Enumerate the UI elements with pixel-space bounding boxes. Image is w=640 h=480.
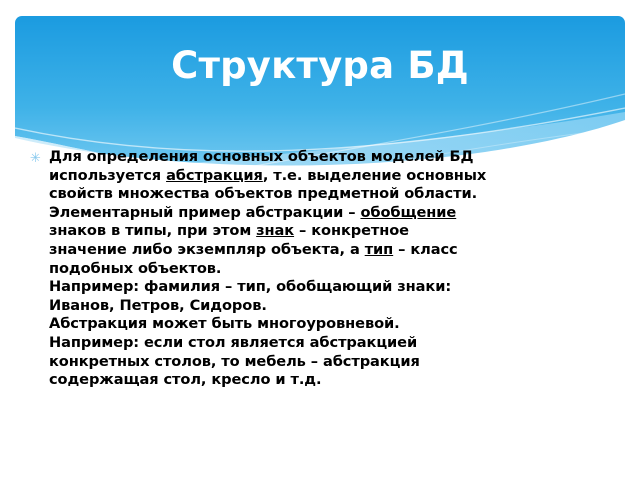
text-run: конкретных столов, то мебель – абстракци… (49, 353, 420, 370)
text-run: Например: фамилия – тип, обобщающий знак… (49, 278, 451, 295)
slide-title: Структура БД (15, 44, 625, 88)
emphasised-term: обобщение (360, 204, 456, 221)
emphasised-term: тип (365, 241, 393, 258)
body-text-line: знаков в типы, при этом знак – конкретно… (49, 222, 620, 241)
bullet-item-text: Для определения основных объектов моделе… (49, 148, 620, 390)
body-text-line: Например: фамилия – тип, обобщающий знак… (49, 278, 620, 297)
text-run: значение либо экземпляр объекта, а (49, 241, 365, 258)
text-run: – класс (393, 241, 457, 258)
presentation-slide: Структура БД ✳ Для определения основных … (0, 0, 640, 480)
body-text-line: используется абстракция, т.е. выделение … (49, 167, 620, 186)
text-run: Для определения основных объектов моделе… (49, 148, 473, 165)
text-run: , т.е. выделение основных (263, 167, 486, 184)
text-run: Абстракция может быть многоуровневой. (49, 315, 400, 332)
emphasised-term: абстракция (166, 167, 263, 184)
body-text-line: конкретных столов, то мебель – абстракци… (49, 353, 620, 372)
body-text-line: Например: если стол является абстракцией (49, 334, 620, 353)
body-text-line: свойств множества объектов предметной об… (49, 185, 620, 204)
body-text-line: Иванов, Петров, Сидоров. (49, 297, 620, 316)
snowflake-bullet-icon: ✳ (30, 148, 49, 168)
slide-body: ✳ Для определения основных объектов моде… (30, 148, 620, 390)
text-run: Например: если стол является абстракцией (49, 334, 417, 351)
body-text-line: подобных объектов. (49, 260, 620, 279)
emphasised-term: знак (256, 222, 294, 239)
text-run: подобных объектов. (49, 260, 221, 277)
text-run: Иванов, Петров, Сидоров. (49, 297, 267, 314)
text-run: знаков в типы, при этом (49, 222, 256, 239)
text-run: свойств множества объектов предметной об… (49, 185, 477, 202)
body-text-line: содержащая стол, кресло и т.д. (49, 371, 620, 390)
text-run: используется (49, 167, 166, 184)
body-text-line: значение либо экземпляр объекта, а тип –… (49, 241, 620, 260)
bullet-list-item: ✳ Для определения основных объектов моде… (30, 148, 620, 390)
body-text-line: Абстракция может быть многоуровневой. (49, 315, 620, 334)
text-run: Элементарный пример абстракции – (49, 204, 360, 221)
body-text-line: Элементарный пример абстракции – обобщен… (49, 204, 620, 223)
text-run: – конкретное (294, 222, 409, 239)
body-text-line: Для определения основных объектов моделе… (49, 148, 620, 167)
text-run: содержащая стол, кресло и т.д. (49, 371, 321, 388)
